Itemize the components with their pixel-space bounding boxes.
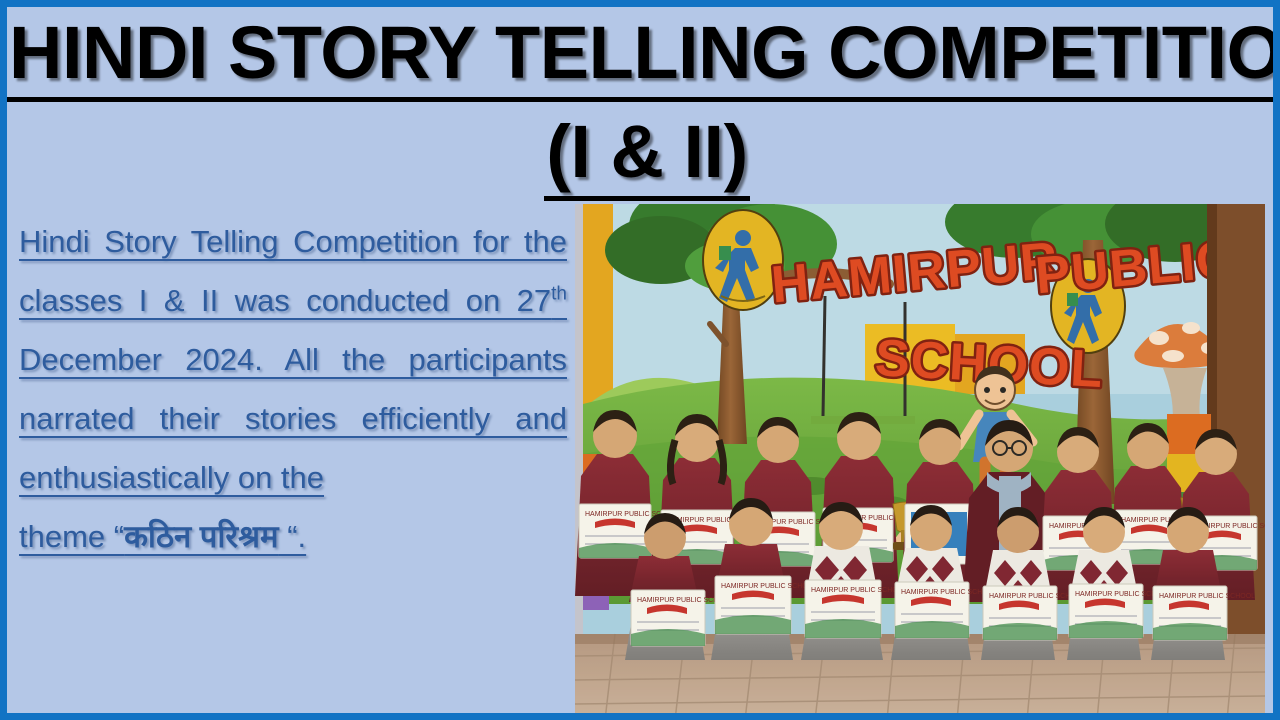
paragraph-segment-1: Hindi Story Telling Competition for the … — [19, 224, 567, 318]
paragraph-segment-2: December 2024. All the participants narr… — [19, 342, 567, 495]
theme-hindi-text: कठिन परिश्रम — [124, 519, 278, 554]
theme-line: theme “कठिन परिश्रम “. — [19, 507, 567, 566]
theme-suffix: “. — [279, 519, 307, 554]
theme-prefix: theme “ — [19, 519, 124, 554]
slide: HINDI STORY TELLING COMPETITION (I & II)… — [0, 0, 1280, 720]
description-paragraph: Hindi Story Telling Competition for the … — [19, 212, 567, 566]
title-line-primary: HINDI STORY TELLING COMPETITION — [7, 11, 1280, 102]
page-title: HINDI STORY TELLING COMPETITION (I & II) — [7, 11, 1280, 201]
title-line-secondary: (I & II) — [544, 110, 750, 201]
date-ordinal-suffix: th — [551, 284, 567, 305]
event-photograph: HAMIRPUR HAMIRPUR PUBLIC PUBLIC SCHOOL S… — [575, 204, 1265, 720]
